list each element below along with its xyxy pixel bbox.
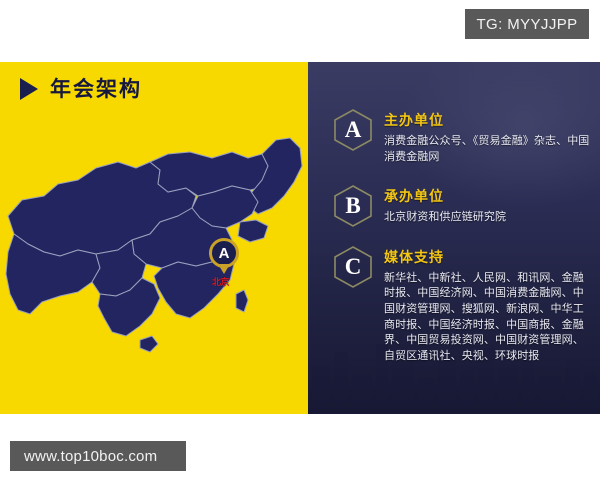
section-heading: 主办单位 [384,110,592,130]
hexagon-badge-letter: A [334,109,372,151]
hexagon-badge-icon: A [334,109,372,151]
slide-screenshot: TG: MYYJJPP 年会架构 [0,0,600,480]
section-body: 主办单位 消费金融公众号、《贸易金融》杂志、中国消费金融网 [384,108,592,166]
hexagon-badge-letter: B [334,185,372,227]
section-body: 媒体支持 新华社、中新社、人民网、和讯网、金融时报、中国经济网、中国消费金融网、… [384,245,592,365]
section-text: 北京财资和供应链研究院 [384,210,506,226]
hexagon-badge-icon: C [334,246,372,288]
site-watermark-text: www.top10boc.com [24,448,157,465]
section-organizer: A 主办单位 消费金融公众号、《贸易金融》杂志、中国消费金融网 [334,108,592,166]
china-map [0,104,308,414]
slide-title-text: 年会架构 [50,79,142,100]
hexagon-badge-letter: C [334,246,372,288]
section-co-organizer: B 承办单位 北京财资和供应链研究院 [334,184,592,227]
yellow-chevron-icon [296,222,308,264]
section-heading: 媒体支持 [384,247,592,267]
section-media-support: C 媒体支持 新华社、中新社、人民网、和讯网、金融时报、中国经济网、中国消费金融… [334,245,592,365]
slide-title-group: 年会架构 [20,78,142,100]
map-marker-a[interactable]: A [209,238,239,268]
section-text: 新华社、中新社、人民网、和讯网、金融时报、中国经济网、中国消费金融网、中国财资管… [384,271,592,365]
site-watermark-badge: www.top10boc.com [10,441,186,471]
info-panel: A 主办单位 消费金融公众号、《贸易金融》杂志、中国消费金融网 B [308,62,600,414]
slide-card: 年会架构 [0,62,600,414]
telegram-watermark-badge: TG: MYYJJPP [465,9,589,39]
section-list: A 主办单位 消费金融公众号、《贸易金融》杂志、中国消费金融网 B [308,62,600,414]
section-heading: 承办单位 [384,186,506,206]
map-city-label: 北京 [212,278,229,287]
hexagon-badge-icon: B [334,185,372,227]
map-marker-letter: A [219,245,230,262]
play-triangle-icon [20,78,38,100]
section-body: 承办单位 北京财资和供应链研究院 [384,184,506,226]
section-text: 消费金融公众号、《贸易金融》杂志、中国消费金融网 [384,134,592,166]
telegram-watermark-text: TG: MYYJJPP [476,16,577,33]
map-panel: 年会架构 [0,62,308,414]
